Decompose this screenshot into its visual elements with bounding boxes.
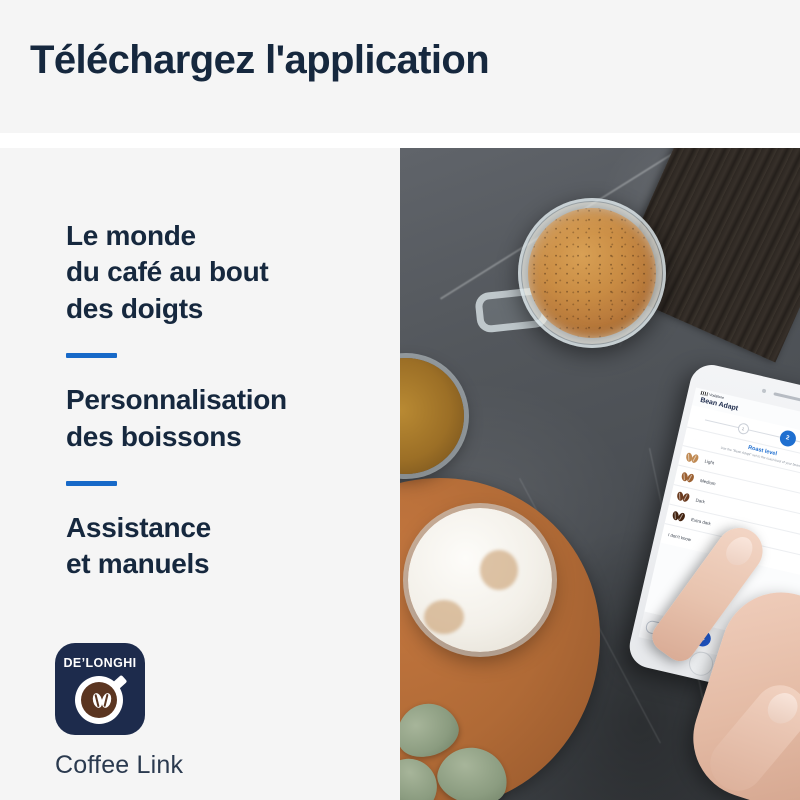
hero-photo: Vodafone 100% Bean Adapt 9:41 AM 1 2 ✕ R…	[400, 148, 800, 800]
foam-spot	[480, 550, 518, 590]
cup-body-icon	[75, 676, 123, 724]
foam-spot	[424, 600, 464, 634]
promo-page: Téléchargez l'application Le monde du ca…	[0, 0, 800, 800]
app-name-label: Coffee Link	[55, 751, 183, 780]
feature-separator-1	[66, 353, 117, 358]
coffee-bean-icon	[671, 510, 687, 524]
cup-coffee-icon	[81, 682, 117, 718]
earpiece-speaker	[773, 392, 800, 402]
coffee-bean-icon-2	[100, 692, 112, 709]
feature-text-1: Le monde du café au bout des doigts	[66, 218, 386, 327]
cappuccino-glass-mug	[518, 198, 666, 348]
coffee-bean-icon	[685, 451, 701, 465]
fingernail	[721, 532, 758, 570]
front-camera-icon	[762, 389, 767, 394]
left-content-panel: Le monde du café au bout des doigts Pers…	[0, 148, 400, 800]
hand	[676, 528, 800, 800]
coffee-bean-icon	[680, 471, 696, 485]
feature-item-1: Le monde du café au bout des doigts	[66, 218, 386, 327]
feature-item-2: Personnalisation des boissons	[66, 382, 386, 455]
app-badge[interactable]: DE’LONGHI Coffee Link	[55, 643, 183, 780]
header-divider	[0, 133, 800, 148]
coffee-cup-icon	[75, 676, 125, 726]
mug-glass	[518, 198, 666, 348]
feature-list: Le monde du café au bout des doigts Pers…	[66, 218, 386, 583]
mug-foam-edge	[522, 202, 662, 344]
app-icon-brand-text: DE’LONGHI	[55, 656, 145, 670]
feature-text-2: Personnalisation des boissons	[66, 382, 386, 455]
coffee-bean-icon	[676, 490, 692, 504]
latte-glass	[408, 508, 552, 652]
feature-text-3: Assistance et manuels	[66, 510, 386, 583]
feature-item-3: Assistance et manuels	[66, 510, 386, 583]
feature-separator-2	[66, 481, 117, 486]
step-dot-1[interactable]: 1	[737, 422, 750, 435]
app-icon[interactable]: DE’LONGHI	[55, 643, 145, 735]
page-header: Téléchargez l'application	[0, 0, 800, 133]
step-dot-2-active[interactable]: 2	[778, 429, 797, 448]
fingernail	[762, 687, 800, 730]
page-title: Téléchargez l'application	[30, 38, 489, 82]
